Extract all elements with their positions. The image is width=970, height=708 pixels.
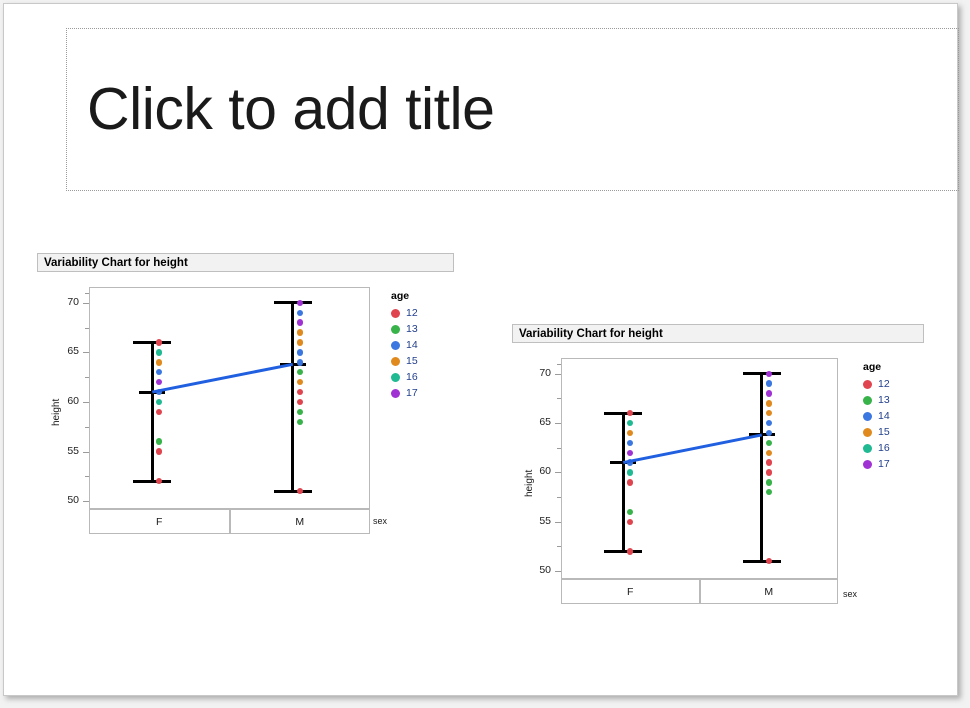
x-axis-title: sex: [373, 516, 387, 526]
y-axis-tick-label: 60: [525, 465, 551, 477]
legend-item-label: 12: [878, 378, 890, 390]
y-axis-tick-mark: [555, 423, 561, 424]
data-point: [297, 319, 303, 325]
mean-marker-m: [280, 363, 306, 366]
data-point: [766, 400, 772, 406]
data-point: [297, 399, 303, 405]
legend-swatch-icon: [391, 389, 400, 398]
data-point: [627, 509, 633, 515]
x-axis-group-cell-f: F: [561, 579, 700, 604]
y-axis-tick-mark: [83, 452, 89, 453]
data-point: [766, 410, 772, 416]
legend-item-label: 14: [406, 339, 418, 351]
y-axis-tick-mark: [555, 571, 561, 572]
legend-swatch-icon: [863, 460, 872, 469]
data-point: [297, 310, 303, 316]
mean-marker-m: [749, 433, 775, 436]
data-point: [156, 448, 162, 454]
y-axis-minor-tick-mark: [85, 377, 89, 378]
screen-root: Click to add title Variability Chart for…: [0, 0, 970, 708]
data-point: [766, 479, 772, 485]
data-point: [627, 450, 633, 456]
y-axis-tick-label: 55: [525, 515, 551, 527]
legend-swatch-icon: [863, 412, 872, 421]
legend-item-label: 13: [878, 394, 890, 406]
legend-item-age-15[interactable]: 15: [391, 353, 418, 369]
whisker-cap-min-m: [274, 490, 312, 493]
data-point: [766, 450, 772, 456]
whisker-stem-m: [291, 303, 294, 491]
data-point: [156, 438, 162, 444]
legend: age121314151617: [863, 361, 890, 472]
legend-swatch-icon: [863, 380, 872, 389]
legend-swatch-icon: [391, 357, 400, 366]
x-axis-group-cell-m: M: [230, 509, 371, 534]
data-point: [627, 479, 633, 485]
whisker-stem-f: [151, 343, 154, 482]
legend-item-age-14[interactable]: 14: [391, 337, 418, 353]
y-axis-tick-mark: [555, 374, 561, 375]
title-placeholder-text[interactable]: Click to add title: [67, 79, 494, 141]
y-axis-tick-mark: [83, 501, 89, 502]
y-axis-tick-label: 50: [53, 494, 79, 506]
chart-title-bar: Variability Chart for height: [512, 324, 924, 343]
legend-item-label: 17: [406, 387, 418, 399]
legend-swatch-icon: [863, 444, 872, 453]
data-point: [297, 300, 303, 306]
data-point: [766, 390, 772, 396]
whisker-stem-f: [622, 413, 625, 551]
legend: age121314151617: [391, 290, 418, 401]
y-axis-tick-mark: [83, 352, 89, 353]
whisker-cap-min-m: [743, 560, 781, 563]
data-point: [297, 349, 303, 355]
legend-swatch-icon: [391, 309, 400, 318]
data-point: [627, 440, 633, 446]
y-axis-minor-tick-mark: [85, 293, 89, 294]
legend-swatch-icon: [391, 325, 400, 334]
data-point: [156, 379, 162, 385]
legend-item-age-12[interactable]: 12: [391, 305, 418, 321]
legend-item-age-16[interactable]: 16: [391, 369, 418, 385]
legend-swatch-icon: [863, 428, 872, 437]
legend-title: age: [391, 290, 418, 302]
plot-area: [561, 358, 838, 579]
whisker-cap-max-f: [133, 341, 171, 344]
data-point: [156, 409, 162, 415]
y-axis-title: height: [524, 470, 535, 497]
y-axis-tick-label: 55: [53, 445, 79, 457]
legend-item-label: 12: [406, 307, 418, 319]
legend-item-label: 16: [878, 442, 890, 454]
legend-item-age-14[interactable]: 14: [863, 408, 890, 424]
y-axis-tick-label: 70: [53, 296, 79, 308]
whisker-cap-min-f: [133, 480, 171, 483]
legend-item-age-13[interactable]: 13: [391, 321, 418, 337]
y-axis-minor-tick-mark: [85, 476, 89, 477]
data-point: [627, 459, 633, 465]
legend-item-label: 16: [406, 371, 418, 383]
data-point: [297, 389, 303, 395]
x-axis-group-cell-m: M: [700, 579, 839, 604]
data-point: [627, 430, 633, 436]
data-point: [627, 519, 633, 525]
y-axis-minor-tick-mark: [85, 328, 89, 329]
data-point: [766, 440, 772, 446]
data-point: [627, 548, 633, 554]
whisker-cap-max-m: [274, 301, 312, 304]
data-point: [297, 329, 303, 335]
legend-item-label: 15: [406, 355, 418, 367]
x-axis-group-cell-f: F: [89, 509, 230, 534]
legend-item-label: 17: [878, 458, 890, 470]
legend-item-label: 14: [878, 410, 890, 422]
data-point: [156, 349, 162, 355]
y-axis-tick-mark: [555, 472, 561, 473]
y-axis-tick-label: 60: [53, 395, 79, 407]
data-point: [766, 371, 772, 377]
legend-item-age-15[interactable]: 15: [863, 424, 890, 440]
legend-item-age-16[interactable]: 16: [863, 440, 890, 456]
y-axis-tick-mark: [83, 402, 89, 403]
data-point: [297, 369, 303, 375]
legend-item-age-17[interactable]: 17: [391, 385, 418, 401]
mean-marker-f: [139, 391, 165, 394]
chart-title-bar: Variability Chart for height: [37, 253, 454, 272]
y-axis-tick-label: 65: [53, 345, 79, 357]
title-placeholder[interactable]: Click to add title: [66, 28, 959, 191]
whisker-cap-max-m: [743, 372, 781, 375]
data-point: [766, 459, 772, 465]
data-point: [766, 469, 772, 475]
data-point: [156, 399, 162, 405]
data-point: [156, 389, 162, 395]
data-point: [627, 410, 633, 416]
y-axis-tick-mark: [83, 303, 89, 304]
data-point: [627, 420, 633, 426]
data-point: [766, 380, 772, 386]
y-axis-title: height: [51, 399, 62, 426]
y-axis-minor-tick-mark: [557, 497, 561, 498]
data-point: [766, 558, 772, 564]
data-point: [766, 489, 772, 495]
y-axis-minor-tick-mark: [557, 398, 561, 399]
data-point: [156, 359, 162, 365]
legend-item-age-12[interactable]: 12: [863, 376, 890, 392]
data-point: [627, 469, 633, 475]
legend-swatch-icon: [391, 373, 400, 382]
y-axis-minor-tick-mark: [557, 364, 561, 365]
legend-item-age-13[interactable]: 13: [863, 392, 890, 408]
x-axis-title: sex: [843, 589, 857, 599]
whisker-cap-min-f: [604, 550, 642, 553]
data-point: [766, 430, 772, 436]
data-point: [297, 379, 303, 385]
y-axis-tick-mark: [555, 522, 561, 523]
whisker-stem-m: [760, 374, 763, 561]
data-point: [297, 419, 303, 425]
data-point: [766, 420, 772, 426]
y-axis-tick-label: 65: [525, 416, 551, 428]
powerpoint-slide-canvas[interactable]: Click to add title Variability Chart for…: [3, 3, 958, 696]
legend-item-age-17[interactable]: 17: [863, 456, 890, 472]
mean-marker-f: [610, 461, 636, 464]
y-axis-minor-tick-mark: [557, 448, 561, 449]
legend-item-label: 15: [878, 426, 890, 438]
data-point: [297, 359, 303, 365]
y-axis-minor-tick-mark: [85, 427, 89, 428]
legend-swatch-icon: [391, 341, 400, 350]
legend-item-label: 13: [406, 323, 418, 335]
plot-area: [89, 287, 370, 509]
legend-swatch-icon: [863, 396, 872, 405]
y-axis-minor-tick-mark: [557, 546, 561, 547]
y-axis-tick-label: 50: [525, 564, 551, 576]
data-point: [297, 488, 303, 494]
data-point: [156, 339, 162, 345]
data-point: [156, 478, 162, 484]
legend-title: age: [863, 361, 890, 373]
whisker-cap-max-f: [604, 412, 642, 415]
data-point: [297, 409, 303, 415]
data-point: [156, 369, 162, 375]
y-axis-tick-label: 70: [525, 367, 551, 379]
data-point: [297, 339, 303, 345]
